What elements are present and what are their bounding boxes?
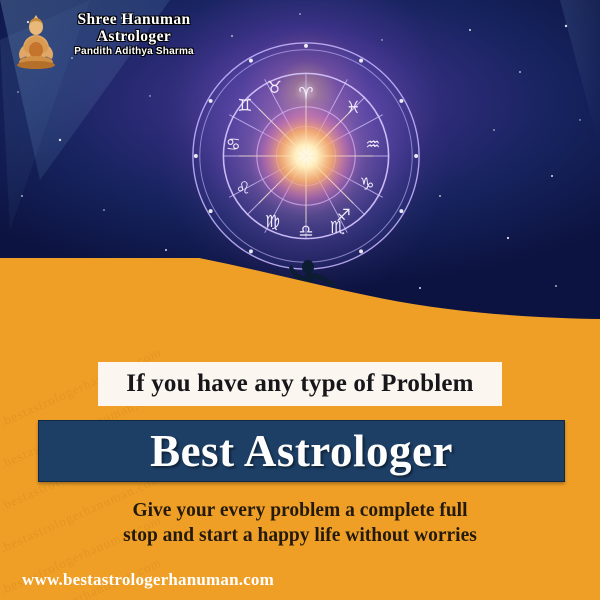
astrologer-poster: ♈ ♓ ♒ ♑ ♐ ♎ ♏ ♍ ♌ ♋ ♊ ♉ bbox=[0, 0, 600, 600]
zodiac-sign-cancer: ♋ bbox=[226, 134, 241, 154]
brand-text: Shree Hanuman Astrologer Pandith Adithya… bbox=[60, 11, 208, 59]
zodiac-wheel-icon: ♈ ♓ ♒ ♑ ♐ ♎ ♏ ♍ ♌ ♋ ♊ ♉ bbox=[188, 38, 424, 274]
zodiac-sign-scorpio: ♏ bbox=[330, 217, 345, 237]
brand-logo[interactable]: Shree Hanuman Astrologer Pandith Adithya… bbox=[8, 8, 208, 74]
headline-box: If you have any type of Problem bbox=[98, 362, 502, 406]
zodiac-sign-aquarius: ♒ bbox=[365, 134, 380, 154]
main-title-banner: Best Astrologer bbox=[38, 420, 565, 482]
brand-line-2: Astrologer bbox=[60, 28, 208, 45]
body-copy-line-1: Give your every problem a complete full bbox=[60, 498, 540, 523]
brand-line-1: Shree Hanuman bbox=[60, 11, 208, 28]
body-copy-line-2: stop and start a happy life without worr… bbox=[60, 523, 540, 548]
body-copy: Give your every problem a complete full … bbox=[60, 498, 540, 548]
brand-line-3: Pandith Adithya Sharma bbox=[60, 45, 208, 59]
zodiac-sign-gemini: ♊ bbox=[238, 95, 253, 115]
website-url[interactable]: www.bestastrologerhanuman.com bbox=[22, 570, 274, 590]
zodiac-sign-libra: ♎ bbox=[299, 221, 314, 241]
zodiac-sign-leo: ♌ bbox=[236, 177, 251, 197]
zodiac-sign-pisces: ♓ bbox=[346, 97, 361, 117]
zodiac-sign-capricorn: ♑ bbox=[359, 174, 374, 194]
zodiac-sign-aries: ♈ bbox=[299, 83, 314, 103]
zodiac-sign-taurus: ♉ bbox=[267, 77, 282, 97]
hanuman-seated-icon bbox=[12, 12, 60, 70]
headline-text: If you have any type of Problem bbox=[126, 370, 473, 398]
main-title-text: Best Astrologer bbox=[150, 425, 453, 477]
zodiac-sign-virgo: ♍ bbox=[265, 211, 280, 231]
